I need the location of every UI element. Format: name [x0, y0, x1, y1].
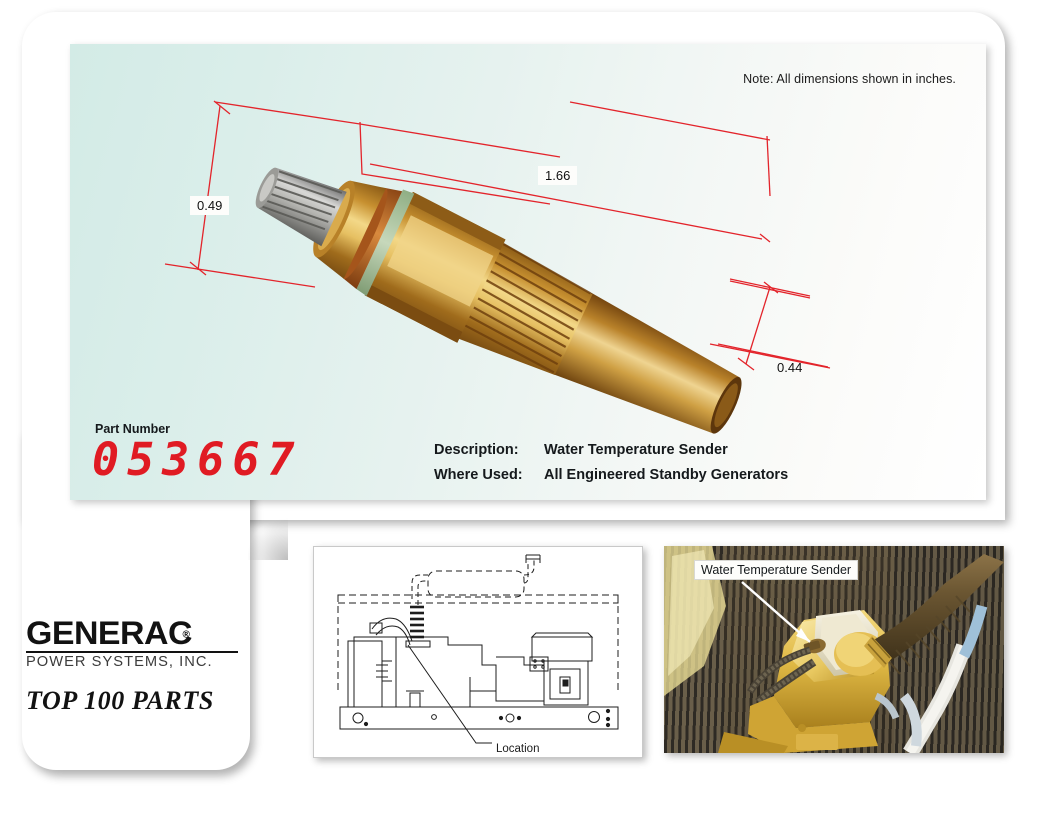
location-diagram: Location [320, 553, 636, 751]
dimension-label-044: 0.44 [770, 358, 809, 377]
installation-photo-panel: Water Temperature Sender [664, 546, 1004, 753]
part-number-value: 053667 [92, 437, 303, 482]
catalog-page: Note: All dimensions shown in inches. [0, 0, 1051, 814]
generator-line-drawing [320, 553, 636, 751]
brand-name: GENERAC [26, 618, 192, 648]
detail-key-where-used: Where Used: [434, 467, 544, 483]
detail-key-description: Description: [434, 442, 544, 458]
dimension-label-166: 1.66 [538, 166, 577, 185]
location-diagram-panel: Location [313, 546, 643, 758]
part-details: Description: Water Temperature Sender Wh… [434, 442, 788, 492]
card-step-shadow [248, 518, 288, 560]
detail-row-where-used: Where Used: All Engineered Standby Gener… [434, 467, 788, 483]
brand-wordmark: GENERAC® [26, 618, 240, 649]
product-image-panel: Note: All dimensions shown in inches. [70, 44, 986, 500]
brand-subtitle: POWER SYSTEMS, INC. [26, 654, 244, 670]
brand-divider [26, 651, 238, 653]
detail-value-description: Water Temperature Sender [544, 442, 728, 458]
dimension-label-049: 0.49 [190, 196, 229, 215]
diagram-location-label: Location [496, 743, 539, 755]
detail-row-description: Description: Water Temperature Sender [434, 442, 788, 458]
detail-value-where-used: All Engineered Standby Generators [544, 467, 788, 483]
photo-callout-label: Water Temperature Sender [694, 560, 858, 580]
generac-logo: GENERAC® POWER SYSTEMS, INC. TOP 100 PAR… [26, 618, 240, 716]
dimension-leaders [70, 44, 986, 500]
brand-tagline: TOP 100 PARTS [26, 686, 240, 716]
